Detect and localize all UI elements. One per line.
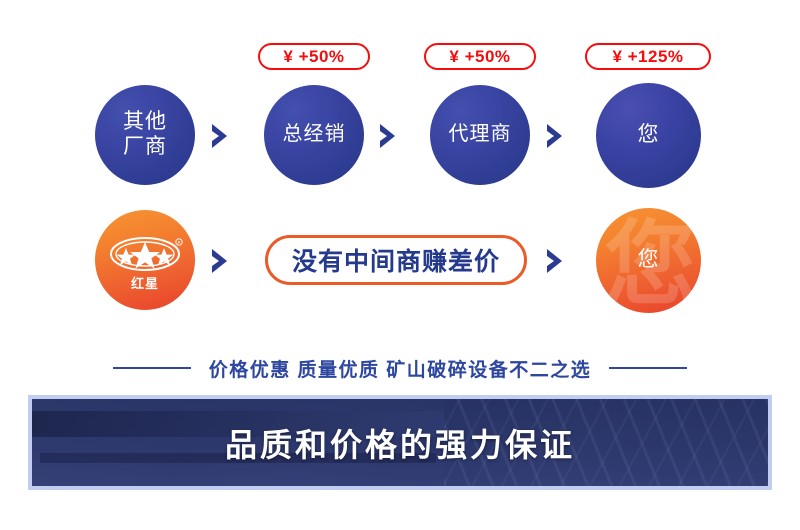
chain-node-label: 其他 厂商 xyxy=(123,110,167,160)
tagline-rule-left xyxy=(113,367,191,369)
chain-node-you-orange: 您 您 xyxy=(596,208,701,313)
tagline: 价格优惠 质量优质 矿山破碎设备不二之选 xyxy=(0,352,800,384)
chevron-right-icon xyxy=(208,246,234,276)
chevron-right-icon xyxy=(543,246,569,276)
chain-node-label: 您 xyxy=(638,123,660,148)
price-badge-2: ¥ +50% xyxy=(424,43,536,70)
chain-node-label: 代理商 xyxy=(449,123,512,147)
chain-node-general-distributor: 总经销 xyxy=(264,85,364,185)
chain-node-label: 总经销 xyxy=(283,123,346,147)
chain-node-label: 您 xyxy=(638,248,660,273)
distribution-chain-row: ¥ +50% ¥ +50% ¥ +125% 其他 厂商 总经销 代理商 您 xyxy=(0,85,800,195)
chain-node-other-manufacturer: 其他 厂商 xyxy=(95,85,195,185)
chain-node-you-blue: 您 xyxy=(596,83,701,188)
chevron-right-icon xyxy=(376,121,402,151)
no-middleman-slogan-text: 没有中间商赚差价 xyxy=(292,242,500,278)
no-middleman-slogan: 没有中间商赚差价 xyxy=(265,235,527,285)
chevron-right-icon xyxy=(208,121,234,151)
chevron-right-icon xyxy=(543,121,569,151)
price-badge-1: ¥ +50% xyxy=(258,43,370,70)
infographic-canvas: ¥ +50% ¥ +50% ¥ +125% 其他 厂商 总经销 代理商 您 xyxy=(0,0,800,530)
hongxing-logo-mark: R 红星 xyxy=(95,210,195,310)
tagline-text: 价格优惠 质量优质 矿山破碎设备不二之选 xyxy=(209,355,592,382)
price-badge-3: ¥ +125% xyxy=(585,43,711,70)
chain-node-agent: 代理商 xyxy=(430,85,530,185)
banner-headline: 品质和价格的强力保证 xyxy=(32,399,768,486)
hongxing-logo: R 红星 xyxy=(95,210,195,310)
direct-sales-row: R 红星 没有中间商赚差价 您 您 xyxy=(0,210,800,320)
tagline-rule-right xyxy=(609,367,687,369)
svg-text:R: R xyxy=(177,240,180,245)
quality-banner: 品质和价格的强力保证 xyxy=(28,395,772,490)
hongxing-logo-text: 红星 xyxy=(131,273,159,292)
